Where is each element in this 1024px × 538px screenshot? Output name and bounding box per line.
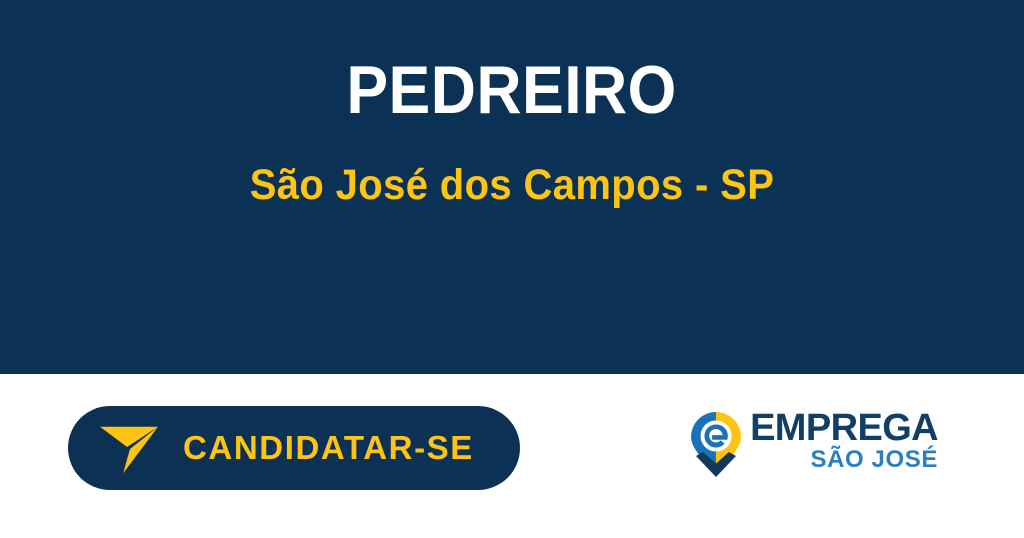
brand-name: EMPREGA [750,410,938,446]
footer-section: Candidatar-se EMPREGA SÃO JOSÉ [0,374,1024,538]
job-vacancy-card: PEDREIRO São José dos Campos - SP Candid… [0,0,1024,538]
send-paper-plane-icon [98,417,160,479]
page-title: PEDREIRO [347,56,677,124]
brand-logo: EMPREGA SÃO JOSÉ [689,410,938,479]
apply-button[interactable]: Candidatar-se [68,406,520,490]
job-location: São José dos Campos - SP [250,164,775,207]
map-pin-e-icon [689,411,743,479]
apply-button-label: Candidatar-se [183,429,474,467]
brand-wordmark: EMPREGA SÃO JOSÉ [750,410,938,472]
hero-section: PEDREIRO São José dos Campos - SP [0,0,1024,374]
brand-subtitle: SÃO JOSÉ [810,448,938,472]
